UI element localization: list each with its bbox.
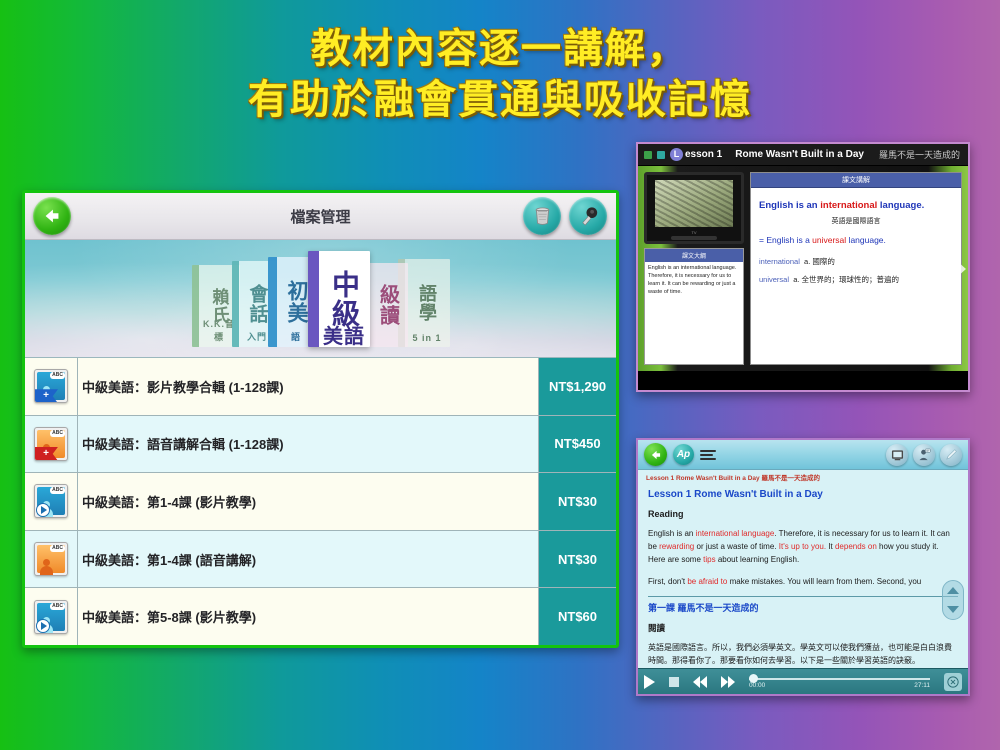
tv-logo: TV [691,230,696,235]
scroll-stepper[interactable] [942,580,964,620]
chevron-down-icon[interactable] [947,606,959,613]
screen-icon [891,449,904,461]
pronunciation-button[interactable]: Ap [673,444,694,465]
explanation-body: English is an international language. 英語… [751,188,961,297]
lesson-title-en: Rome Wasn't Built in a Day [735,149,864,160]
play-badge-icon [36,619,50,633]
close-player-button[interactable] [944,673,962,691]
table-row[interactable]: ABC + 中級美語：影片教學合輯 (1-128課) NT$1,290 [25,358,616,416]
fast-forward-button[interactable] [721,676,735,688]
key-button[interactable] [569,197,607,235]
item-price: NT$60 [538,588,616,645]
lesson-number: esson 1 [685,149,722,160]
course-banner: 賴氏 K.K.音標 會話 入門 初美 語 中級 美語 級讀 語學 5 in 1 [25,240,616,358]
reading-lesson-title: Lesson 1 Rome Wasn't Built in a Day [648,489,958,500]
lesson-title-zh: 羅馬不是一天造成的 [879,148,960,161]
item-label: 中級美語：第1-4課 (語音講解) [77,531,538,588]
time-total: 27:11 [914,682,930,689]
person-note-button[interactable] [913,444,935,466]
item-price: NT$1,290 [538,358,616,415]
lesson-badge-icon: L [670,148,683,161]
explanation-sentence-2: = English is a universal language. [759,233,953,247]
video-lesson-window: L esson 1 Rome Wasn't Built in a Day 羅馬不… [636,142,970,392]
vocab-entry-1: international a. 國際的 [759,256,953,269]
fast-forward-icon [721,676,728,688]
reader-window: Ap [636,438,970,696]
title-line-2: 有助於融會貫通與吸收記憶 [0,75,1000,126]
next-page-arrow-icon[interactable] [957,261,966,277]
row-icon-cell: ABC + [25,358,77,415]
course-item-list: ABC + 中級美語：影片教學合輯 (1-128課) NT$1,290 ABC … [25,358,616,645]
explanation-sentence-1: English is an international language. [759,198,953,214]
outline-box: 課文大綱 English is an international languag… [644,248,744,365]
list-icon[interactable] [700,447,718,463]
pen-button[interactable] [940,444,962,466]
reading-section-heading-zh: 閱讀 [648,622,958,634]
explanation-box: 課文講解 English is an international languag… [750,172,962,365]
play-button[interactable] [644,675,655,689]
reader-content: Lesson 1 Rome Wasn't Built in a Day Read… [638,484,968,668]
book-cover-stack: 賴氏 K.K.音標 會話 入門 初美 語 中級 美語 級讀 語學 5 in 1 [192,251,450,347]
item-price: NT$30 [538,473,616,530]
audio-lesson-icon: ABC + [34,427,68,461]
table-row[interactable]: ABC 中級美語：第1-4課 (影片教學) NT$30 [25,473,616,531]
explanation-header: 課文講解 [751,173,961,188]
item-price: NT$30 [538,531,616,588]
trash-button[interactable] [523,197,561,235]
stop-icon [669,677,679,687]
row-icon-cell: ABC [25,473,77,530]
seek-track [749,678,930,680]
reading-section-heading: Reading [648,509,958,519]
divider [648,596,958,597]
slide-title: 教材內容逐一講解， 有助於融會貫通與吸收記憶 [0,24,1000,126]
reading-paragraph-zh: 英語是國際語言。所以，我們必須學英文。學英文可以使我們獲益，也可能是白白浪費時間… [648,641,958,668]
table-row[interactable]: ABC + 中級美語：語音講解合輯 (1-128課) NT$450 [25,416,616,474]
video-lesson-icon: ABC + [34,369,68,403]
video-lesson-titlebar: L esson 1 Rome Wasn't Built in a Day 羅馬不… [638,144,968,166]
reading-lesson-title-zh: 第一課 羅馬不是一天造成的 [648,601,958,614]
rewind-icon [700,676,707,688]
rewind-icon [693,676,700,688]
reader-back-button[interactable] [644,443,667,466]
table-row[interactable]: ABC 中級美語：第5-8課 (影片教學) NT$60 [25,588,616,645]
explanation-sentence-1-zh: 英語是國際語言 [759,216,953,228]
video-lesson-body: TV 課文大綱 English is an international lang… [638,166,968,371]
rewind-button[interactable] [693,676,707,688]
reader-toolbar: Ap [638,440,968,470]
item-label: 中級美語：第5-8課 (影片教學) [77,588,538,645]
row-icon-cell: ABC [25,531,77,588]
reading-paragraph-2: First, don't be afraid to make mistakes.… [648,576,958,589]
breadcrumb: Lesson 1 Rome Wasn't Built in a Day 羅馬不是… [638,470,968,484]
media-player-bar: 00:00 27:11 [638,668,968,694]
tv-stand [671,236,717,240]
video-column: TV 課文大綱 English is an international lang… [644,172,744,365]
play-icon [644,675,655,689]
file-manager-window: 檔案管理 賴氏 K.K.音標 [22,190,619,648]
table-row[interactable]: ABC 中級美語：第1-4課 (語音講解) NT$30 [25,531,616,589]
trash-icon [533,206,552,226]
seek-bar[interactable]: 00:00 27:11 [749,673,930,691]
back-button[interactable] [33,197,71,235]
video-screen [655,180,733,227]
item-label: 中級美語：第1-4課 (影片教學) [77,473,538,530]
item-label: 中級美語：語音講解合輯 (1-128課) [77,416,538,473]
back-arrow-icon [41,205,63,227]
close-icon [947,676,959,688]
book-cover-active: 中級 美語 [308,251,370,347]
stop-button[interactable] [669,677,679,687]
row-icon-cell: ABC + [25,416,77,473]
home-icon[interactable] [644,151,652,159]
pen-icon [945,448,958,461]
item-price: NT$450 [538,416,616,473]
chevron-up-icon[interactable] [947,587,959,594]
bookmark-icon[interactable] [657,151,665,159]
fast-forward-icon [728,676,735,688]
vocab-entry-2: universal a. 全世界的；環球性的；普遍的 [759,274,953,287]
reading-paragraph-1: English is an international language. Th… [648,528,958,567]
title-line-1: 教材內容逐一講解， [0,24,1000,75]
key-icon [578,206,599,227]
video-lesson-icon: ABC [34,600,68,634]
back-arrow-icon [649,448,663,462]
reader-toolbar-actions [886,444,962,466]
person-note-icon [918,448,931,461]
outline-header: 課文大綱 [645,249,743,262]
video-player-thumbnail[interactable]: TV [644,172,744,244]
audio-lesson-icon: ABC [34,542,68,576]
header-actions [523,197,607,235]
time-current: 00:00 [749,682,765,689]
screen-button[interactable] [886,444,908,466]
outline-text: English is an international language. Th… [645,262,743,364]
file-manager-header: 檔案管理 [25,193,616,240]
video-lesson-icon: ABC [34,484,68,518]
item-label: 中級美語：影片教學合輯 (1-128課) [77,358,538,415]
row-icon-cell: ABC [25,588,77,645]
